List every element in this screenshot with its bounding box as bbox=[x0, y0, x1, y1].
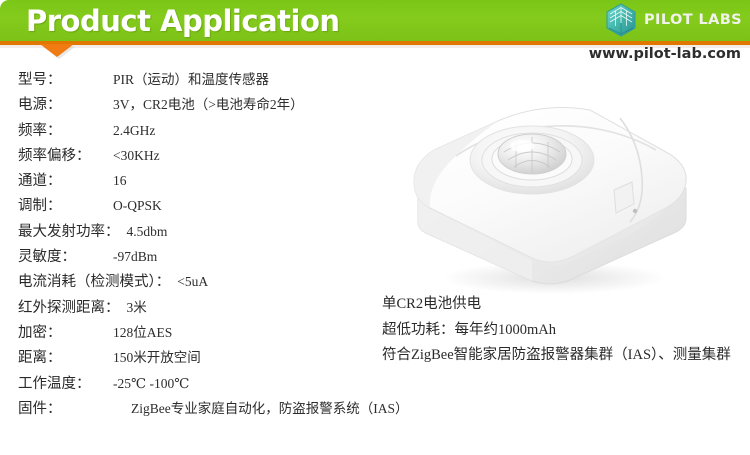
spec-row: 最大发射功率：4.5dbm bbox=[18, 220, 448, 245]
spec-row: 固件：ZigBee专业家庭自动化，防盗报警系统（IAS） bbox=[18, 397, 448, 422]
spec-label: 电源： bbox=[18, 93, 113, 114]
spec-label: 通道： bbox=[18, 169, 113, 190]
spec-row: 工作温度：-25℃ -100℃ bbox=[18, 372, 448, 397]
spec-value: 2.4GHz bbox=[113, 123, 155, 139]
spec-label: 频率： bbox=[18, 119, 113, 140]
spec-label: 电流消耗（检测模式）： bbox=[18, 270, 170, 291]
brand-website-url[interactable]: www.pilot-lab.com bbox=[589, 46, 741, 62]
spec-row: 频率偏移：<30KHz bbox=[18, 144, 448, 169]
spec-value: 16 bbox=[113, 173, 127, 189]
page-title: Product Application bbox=[26, 2, 340, 40]
page-header: Product Application bbox=[0, 0, 750, 41]
pir-motion-temperature-sensor-photo bbox=[404, 82, 704, 297]
spec-row: 灵敏度：-97dBm bbox=[18, 245, 448, 270]
spec-row: 电源：3V，CR2电池（>电池寿命2年） bbox=[18, 93, 448, 118]
spec-value: <5uA bbox=[177, 274, 208, 290]
spec-label: 红外探测距离： bbox=[18, 296, 120, 317]
spec-label: 最大发射功率： bbox=[18, 220, 120, 241]
spec-label: 工作温度： bbox=[18, 372, 113, 393]
spec-value: -97dBm bbox=[113, 249, 157, 265]
specification-list: 型号：PIR（运动）和温度传感器电源：3V，CR2电池（>电池寿命2年）频率：2… bbox=[18, 68, 448, 422]
spec-value: O-QPSK bbox=[113, 198, 162, 214]
spec-label: 调制： bbox=[18, 194, 113, 215]
hex-cube-logo-icon bbox=[605, 3, 637, 37]
spec-row: 调制：O-QPSK bbox=[18, 194, 448, 219]
spec-value: -25℃ -100℃ bbox=[113, 376, 189, 392]
spec-label: 灵敏度： bbox=[18, 245, 113, 266]
note-line: 超低功耗：每年约1000mAh bbox=[382, 318, 748, 344]
spec-label: 频率偏移： bbox=[18, 144, 113, 165]
spec-label: 固件： bbox=[18, 397, 113, 418]
spec-value: <30KHz bbox=[113, 148, 160, 164]
note-line: 符合ZigBee智能家居防盗报警器集群（IAS）、测量集群 bbox=[382, 343, 748, 369]
spec-row: 型号：PIR（运动）和温度传感器 bbox=[18, 68, 448, 93]
spec-row: 频率：2.4GHz bbox=[18, 119, 448, 144]
spec-value: PIR（运动）和温度传感器 bbox=[113, 68, 269, 88]
spec-label: 加密： bbox=[18, 321, 113, 342]
spec-value: 3V，CR2电池（>电池寿命2年） bbox=[113, 93, 304, 113]
spec-label: 距离： bbox=[18, 346, 113, 367]
spec-label: 型号： bbox=[18, 68, 113, 89]
product-notes: 单CR2电池供电超低功耗：每年约1000mAh符合ZigBee智能家居防盗报警器… bbox=[382, 292, 748, 369]
spec-value: ZigBee专业家庭自动化，防盗报警系统（IAS） bbox=[131, 397, 409, 417]
spec-value: 150米开放空间 bbox=[113, 346, 201, 366]
spec-value: 128位AES bbox=[113, 321, 172, 341]
down-arrow-icon bbox=[40, 44, 74, 57]
brand-name: PILOT LABS bbox=[644, 12, 742, 28]
brand-lockup: PILOT LABS bbox=[605, 3, 742, 37]
spec-value: 4.5dbm bbox=[127, 224, 168, 240]
note-line: 单CR2电池供电 bbox=[382, 292, 748, 318]
spec-row: 通道：16 bbox=[18, 169, 448, 194]
spec-value: 3米 bbox=[127, 296, 147, 316]
